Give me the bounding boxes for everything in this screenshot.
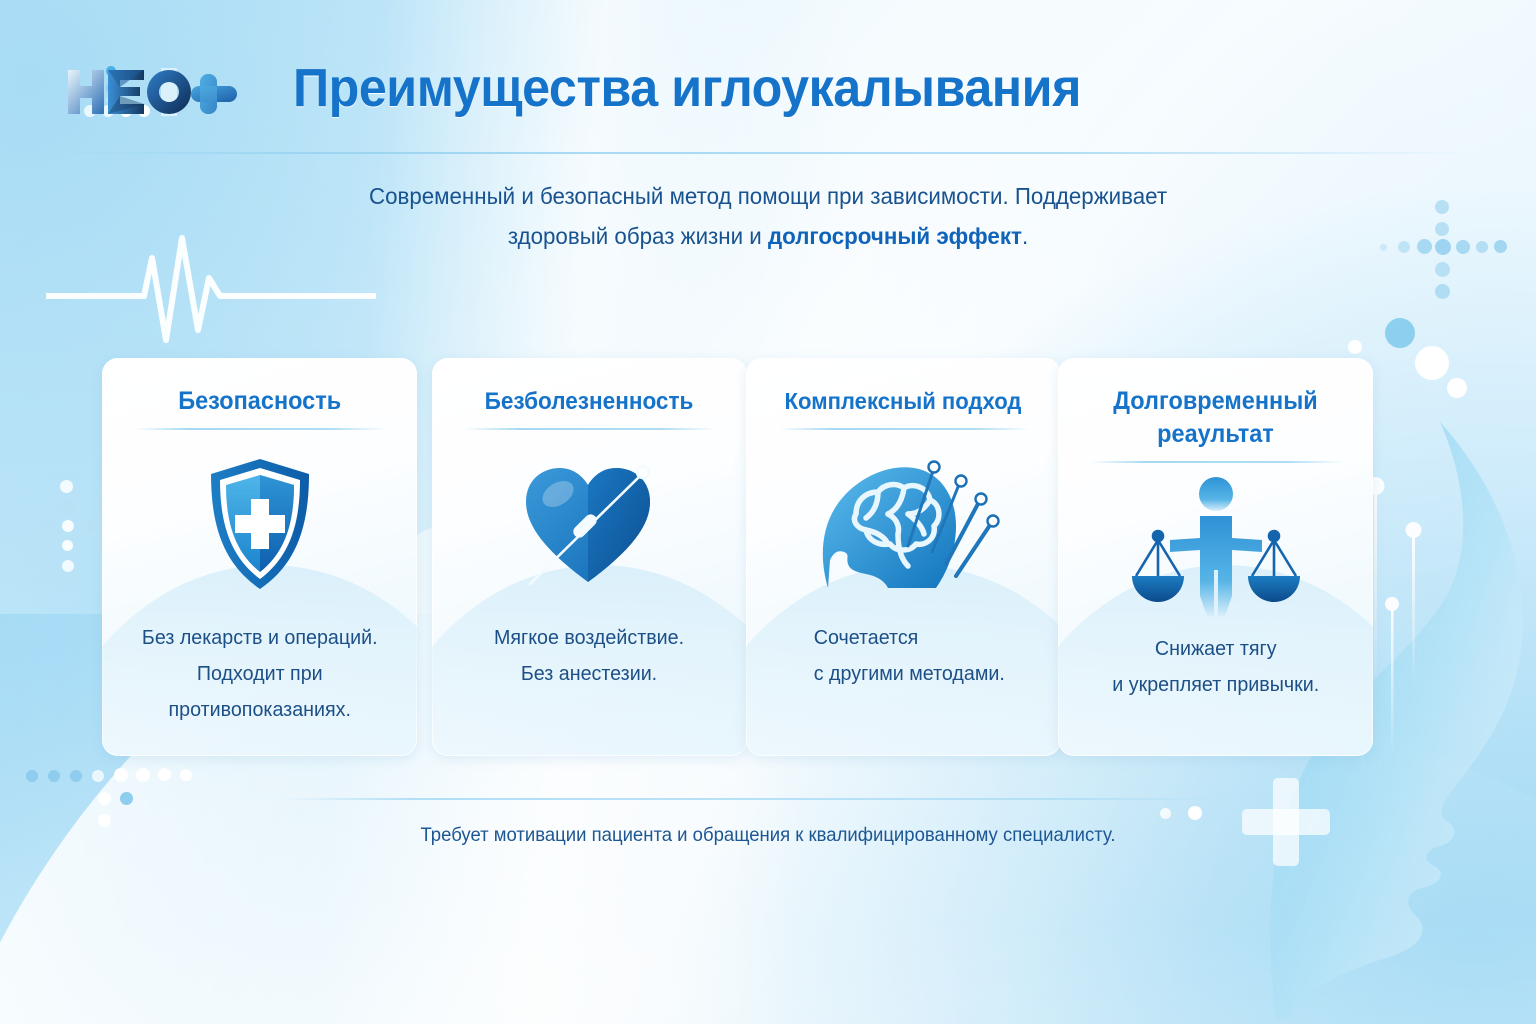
card-description: Мягкое воздействие. Без анестезии.: [477, 620, 702, 692]
card-description: Без лекарств и операций. Подходит при пр…: [124, 620, 394, 728]
infographic-canvas: Преимущества иглоукалывания Современный …: [0, 0, 1536, 1024]
card-desc-line: Без лекарств и операций.: [142, 626, 378, 649]
card-title-divider: [778, 428, 1030, 430]
footer-divider: [282, 798, 1232, 800]
balance-scales-person-icon: [1116, 467, 1316, 627]
shield-cross-icon: [201, 444, 319, 604]
subtitle-line-2-post: .: [1022, 223, 1028, 249]
medical-cross-icon: [1242, 778, 1330, 866]
decor-circle: [1348, 340, 1362, 354]
page-subtitle: Современный и безопасный метод помощи пр…: [293, 176, 1243, 256]
card-title-divider: [464, 428, 716, 430]
benefit-card-safety[interactable]: Безопасность: [102, 358, 417, 756]
card-desc-line: Подходит при: [197, 662, 323, 685]
decor-circle: [1188, 806, 1202, 820]
card-desc-line: с другими методами.: [814, 662, 1005, 685]
card-desc-line: Мягкое воздействие.: [494, 626, 684, 649]
card-desc-line: Без анестезии.: [521, 662, 657, 685]
benefit-card-long-term-result[interactable]: Долговременный реаультат: [1058, 358, 1373, 756]
benefit-card-complex-approach[interactable]: Комплексный подход: [746, 358, 1061, 756]
card-desc-line: Сочетается: [814, 626, 919, 649]
card-desc-line: и укрепляет привычки.: [1112, 673, 1319, 696]
card-description: Сочетается с другими методами.: [785, 620, 1022, 692]
decor-circle: [1385, 318, 1415, 348]
card-title: Комплексный подход: [772, 385, 1035, 418]
benefit-card-painless[interactable]: Безболезненность: [432, 358, 747, 756]
page-title: Преимущества иглоукалывания: [293, 57, 1081, 119]
card-title-divider: [134, 428, 386, 430]
neo-plus-logo-icon: [48, 48, 258, 134]
card-desc-line: противопоказаниях.: [168, 698, 350, 721]
heart-needle-icon: [510, 444, 670, 604]
head-brain-needles-icon: [804, 444, 1004, 604]
card-title: Безопасность: [165, 385, 354, 418]
benefit-cards-row: Безопасность: [0, 358, 1536, 758]
card-title-divider: [1090, 461, 1342, 463]
subtitle-line-2-pre: здоровый образ жизни и: [508, 223, 768, 249]
subtitle-emphasis: долгосрочный эффект: [768, 223, 1022, 249]
decor-circle: [1160, 808, 1171, 819]
card-description: Снижает тягу и укрепляет привычки.: [1095, 631, 1336, 703]
card-title: Долговременный реаультат: [1067, 385, 1363, 451]
subtitle-line-1: Современный и безопасный метод помощи пр…: [369, 183, 1167, 209]
card-desc-line: Снижает тягу: [1155, 637, 1277, 660]
header-divider: [62, 152, 1474, 154]
footer-note: Требует мотивации пациента и обращения к…: [198, 824, 1338, 847]
card-title: Безболезненность: [472, 385, 707, 418]
